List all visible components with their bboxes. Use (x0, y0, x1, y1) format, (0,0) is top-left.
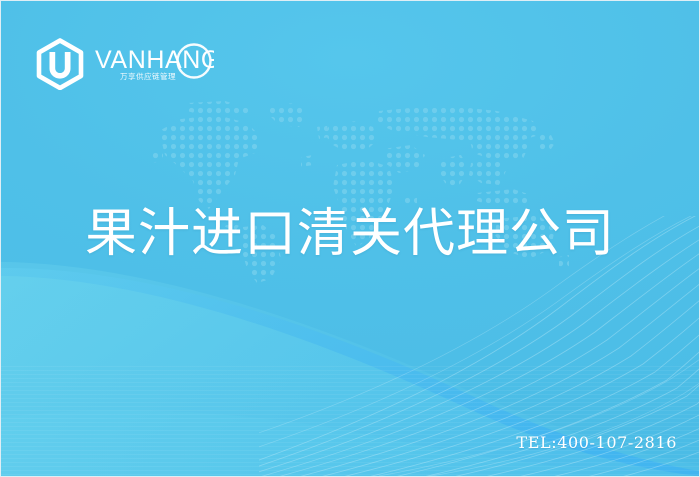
svg-text:万享供应链管理: 万享供应链管理 (120, 71, 176, 81)
hexagon-u-mark-icon (34, 38, 86, 90)
page-title: 果汁进口清关代理公司 (1, 205, 699, 263)
brand-wordmark: VANHANG 万享供应链管理 VANHANG 万享供应链管理 (94, 41, 214, 87)
brand-logo[interactable]: VANHANG 万享供应链管理 VANHANG 万享供应链管理 (34, 37, 214, 91)
contact-phone[interactable]: TEL:400-107-2816 (516, 433, 677, 452)
svg-text:VANHANG: VANHANG (95, 46, 214, 74)
promo-banner: VANHANG 万享供应链管理 VANHANG 万享供应链管理 果汁进口清关代理… (0, 0, 700, 477)
